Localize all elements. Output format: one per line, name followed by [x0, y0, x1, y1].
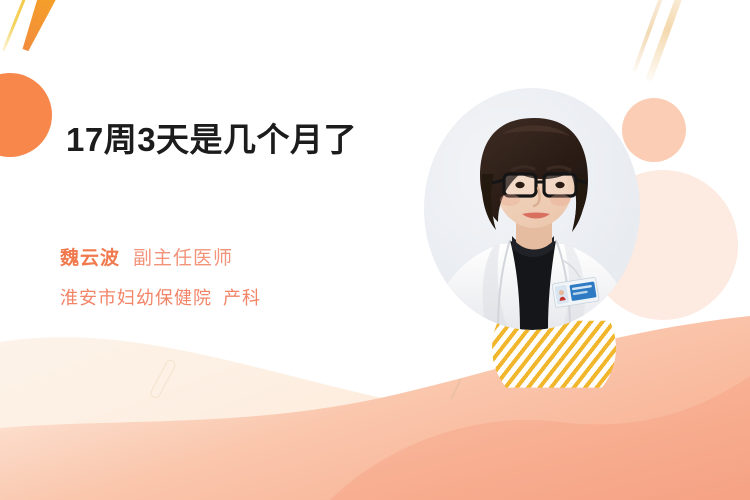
diagonal-beige-streak-icon-a — [632, 0, 667, 72]
doctor-name-row: 魏云波副主任医师 — [60, 249, 233, 268]
doctor-affiliation-row: 淮安市妇幼保健院产科 — [60, 289, 261, 307]
doctor-name: 魏云波 — [60, 248, 120, 269]
diagonal-beige-streak-icon-b — [645, 0, 689, 82]
faint-diagonal-tick-decoration — [450, 379, 461, 400]
orange-circle-decoration — [0, 73, 52, 157]
doctor-hospital: 淮安市妇幼保健院 — [60, 288, 212, 308]
diagonal-orange-streak-icon — [16, 0, 66, 54]
diagonal-yellow-streak-icon — [2, 0, 31, 51]
outlined-capsule-decoration — [149, 358, 178, 400]
doctor-department: 产科 — [223, 288, 261, 308]
doctor-role: 副主任医师 — [133, 248, 233, 269]
page-title: 17周3天是几个月了 — [66, 113, 357, 161]
bottom-wave-band — [0, 310, 750, 500]
doctor-portrait — [424, 88, 640, 330]
doctor-intro-card: 17周3天是几个月了 魏云波副主任医师 淮安市妇幼保健院产科 — [0, 0, 750, 500]
